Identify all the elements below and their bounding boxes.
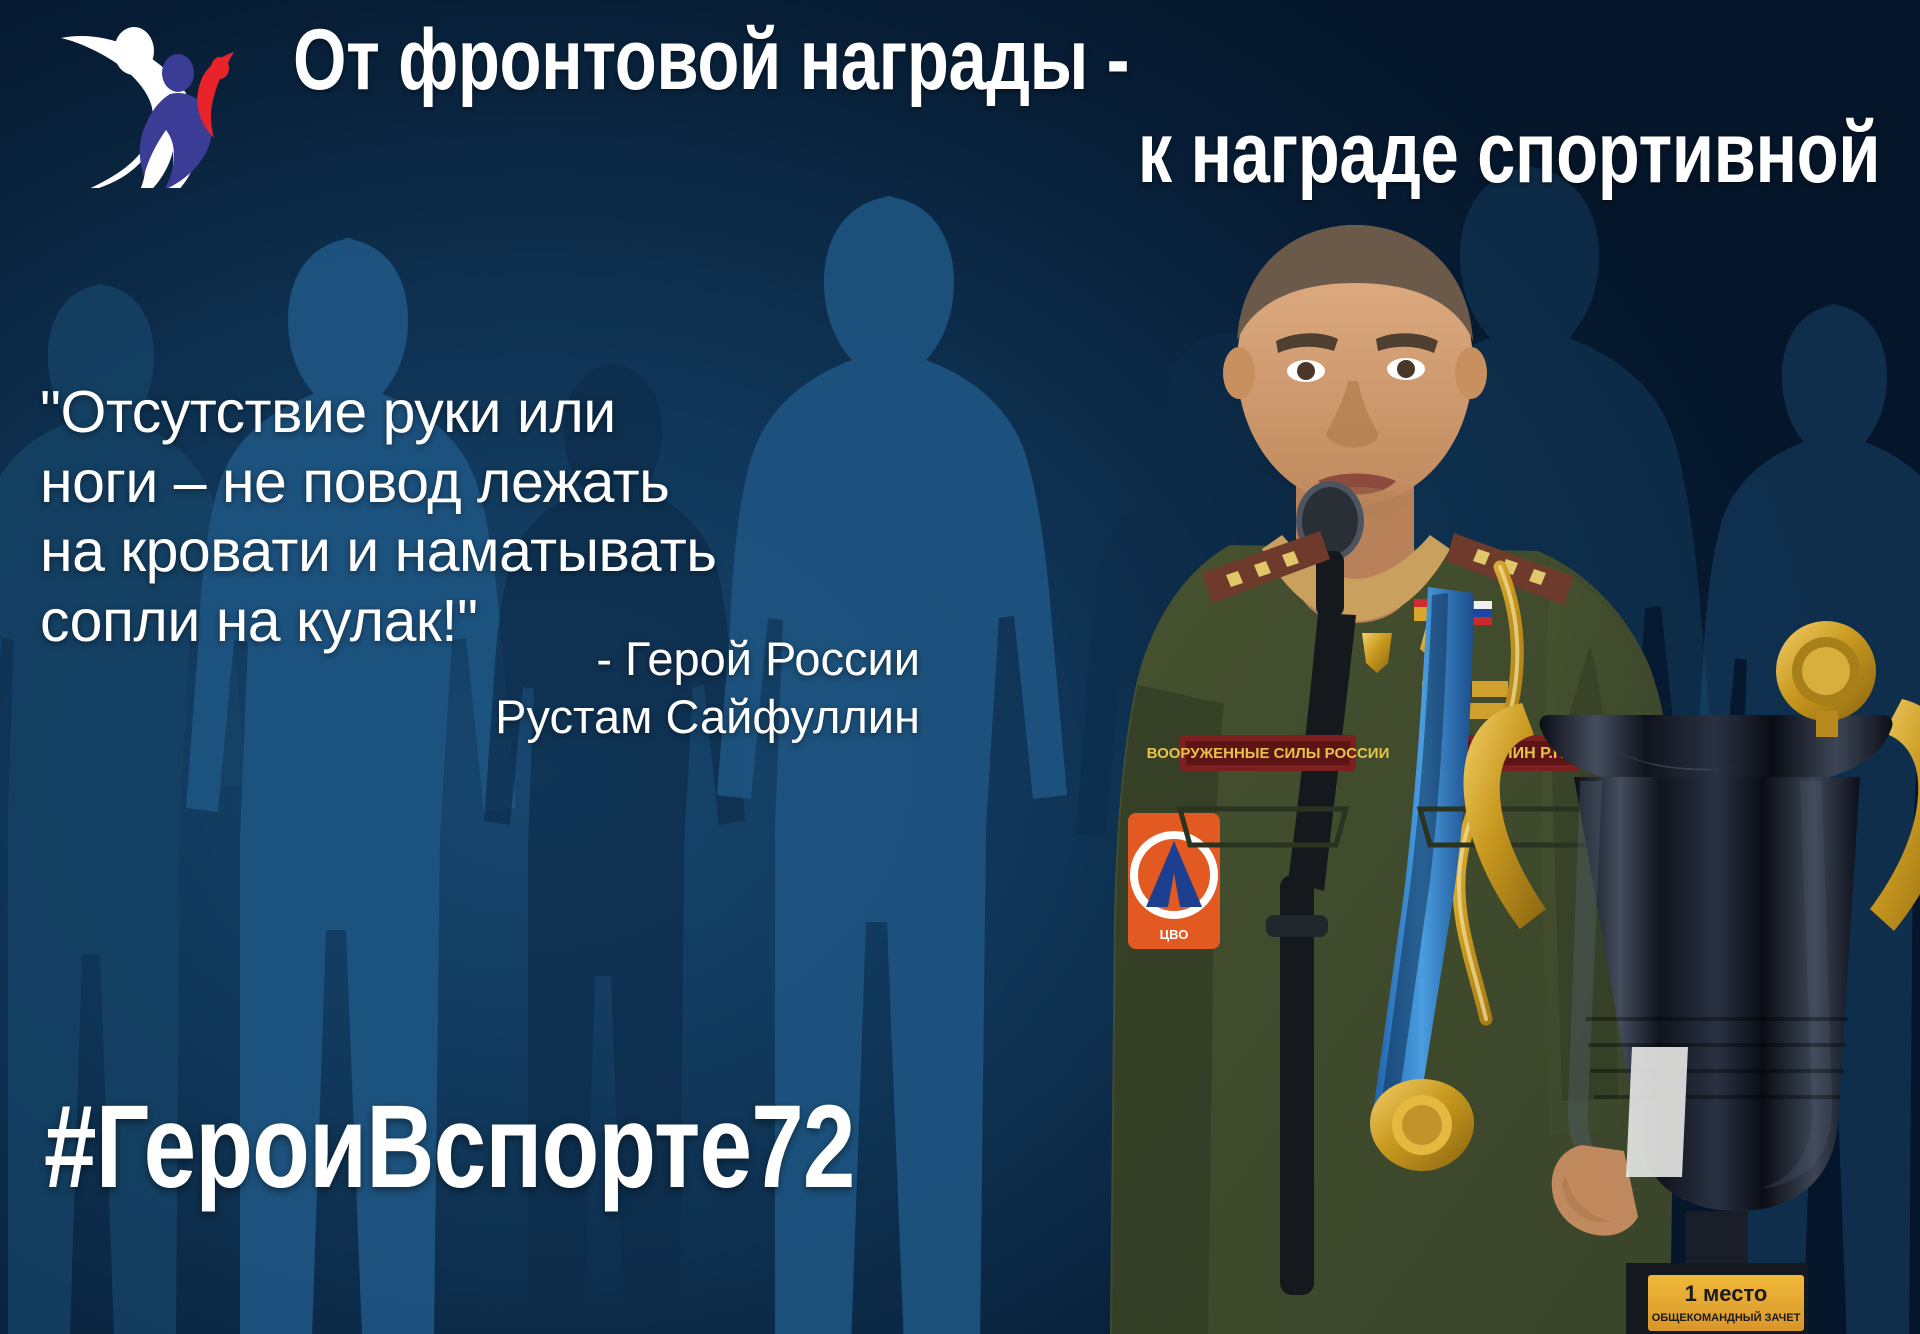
- quote-text: "Отсутствие руки или ноги – не повод леж…: [40, 378, 920, 656]
- officer-with-trophy-photo: ВООРУЖЕННЫЕ СИЛЫ РОССИИ САЙФУЛЛИН Р.Г.: [1030, 215, 1920, 1334]
- certificate-paper: [1626, 1047, 1688, 1177]
- chest-tape: ВООРУЖЕННЫЕ СИЛЫ РОССИИ: [1147, 735, 1390, 771]
- attribution-line-2: Рустам Сайфуллин: [40, 688, 920, 746]
- page-title: От фронтовой награды - к награде спортив…: [285, 18, 1890, 196]
- hero-photo: ВООРУЖЕННЫЕ СИЛЫ РОССИИ САЙФУЛЛИН Р.Г.: [1030, 215, 1920, 1334]
- headline-line-1: От фронтовой награды -: [285, 18, 1890, 103]
- plaque-place-text: 1 место: [1685, 1281, 1768, 1306]
- plaque-category-text: ОБЩЕКОМАНДНЫЙ ЗАЧЕТ: [1652, 1311, 1801, 1324]
- attribution-line-1: - Герой России: [40, 630, 920, 688]
- sleeve-patch: ЦВО: [1128, 813, 1220, 949]
- poster-canvas: От фронтовой награды - к награде спортив…: [0, 0, 1920, 1334]
- organization-logo: [38, 18, 268, 188]
- running-figures-logo-icon: [38, 18, 268, 188]
- quote-attribution: - Герой России Рустам Сайфуллин: [40, 630, 968, 747]
- campaign-hashtag: #ГероиВспорте72: [44, 1088, 855, 1206]
- svg-text:ЦВО: ЦВО: [1160, 927, 1189, 942]
- chest-tape-text: ВООРУЖЕННЫЕ СИЛЫ РОССИИ: [1147, 745, 1390, 762]
- headline-line-2: к награде спортивной: [285, 111, 1890, 196]
